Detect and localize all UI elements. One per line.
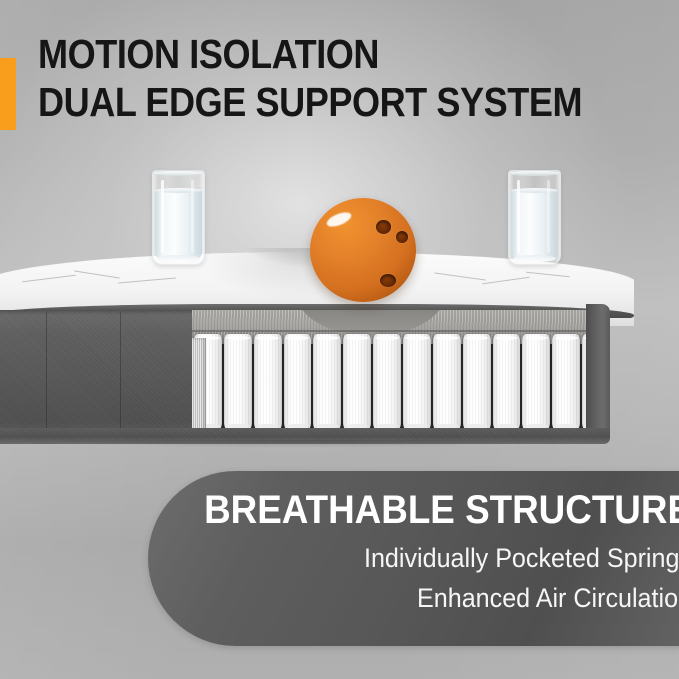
glass-highlight: [517, 180, 520, 253]
cutaway-interior: [192, 310, 610, 438]
quilt-stitch: [74, 270, 120, 278]
glass-highlight: [161, 180, 164, 253]
mattress-drop-shadow: [0, 440, 610, 456]
headline-block: MOTION ISOLATION DUAL EDGE SUPPORT SYSTE…: [38, 30, 668, 126]
headline-line-2: DUAL EDGE SUPPORT SYSTEM: [38, 78, 592, 126]
side-panel-seam: [46, 312, 47, 434]
fabric-side-panel: [0, 310, 204, 436]
pocket-spring: [254, 334, 282, 430]
quilt-stitch: [482, 277, 530, 285]
pocket-spring: [343, 334, 371, 430]
headline-line-1: MOTION ISOLATION: [38, 30, 592, 78]
quilt-stitch: [118, 277, 176, 283]
pocket-spring: [493, 334, 521, 430]
bowling-ball-hole: [376, 220, 391, 234]
bowling-ball-icon: [310, 198, 416, 302]
orange-accent-bar: [0, 58, 16, 130]
pocket-spring: [224, 334, 252, 430]
bowling-ball-highlight: [325, 210, 353, 230]
banner-canvas: MOTION ISOLATION DUAL EDGE SUPPORT SYSTE…: [0, 0, 679, 679]
pocket-spring: [284, 334, 312, 430]
right-cut-face-edge: [586, 304, 610, 440]
water-glass-left: [152, 170, 205, 265]
glass-highlight: [191, 180, 194, 253]
breathable-structure-banner: BREATHABLE STRUCTURE Individually Pocket…: [148, 471, 679, 646]
pocket-spring: [522, 334, 550, 430]
glass-base: [157, 255, 200, 262]
pocket-spring: [433, 334, 461, 430]
water-glass-right: [508, 170, 561, 265]
quilt-stitch: [526, 272, 570, 278]
glass-highlight: [547, 180, 550, 253]
pocket-spring: [313, 334, 341, 430]
pocketed-spring-unit: [192, 334, 610, 438]
quilt-stitch: [434, 272, 486, 280]
glass-base: [513, 255, 556, 262]
glass-rim: [152, 170, 205, 176]
foam-compression-dip: [296, 310, 446, 336]
pocket-spring: [403, 334, 431, 430]
banner-title: BREATHABLE STRUCTURE: [192, 488, 679, 532]
glass-rim: [508, 170, 561, 176]
side-panel-seam: [120, 312, 121, 434]
pocket-spring: [463, 334, 491, 430]
pocket-spring: [373, 334, 401, 430]
bowling-ball-hole: [380, 274, 396, 287]
foam-layer-divider: [192, 330, 610, 332]
banner-subtitle-2: Enhanced Air Circulation: [186, 583, 679, 613]
banner-subtitle-1: Individually Pocketed Springs: [186, 543, 679, 573]
quilt-stitch: [22, 275, 76, 283]
edge-support-coil: [192, 338, 206, 436]
pocket-spring: [552, 334, 580, 430]
bowling-ball-hole: [396, 231, 408, 243]
